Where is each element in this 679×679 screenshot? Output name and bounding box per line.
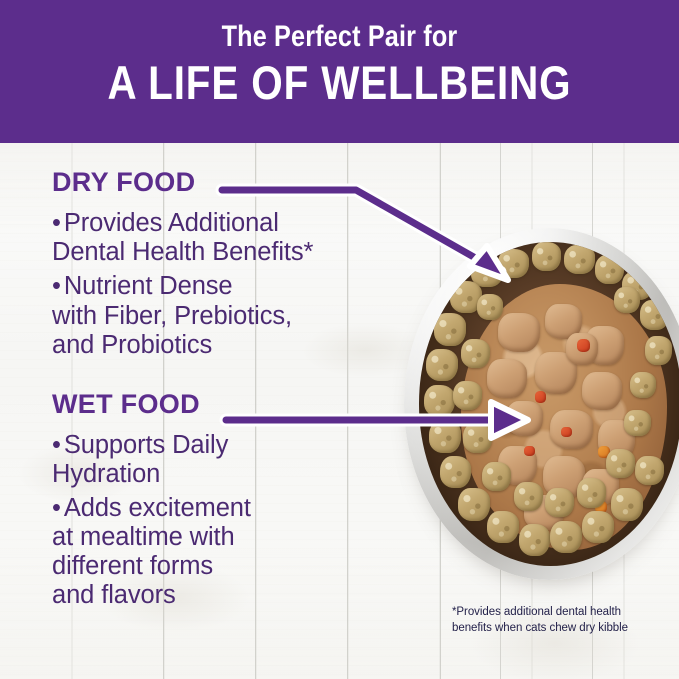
bullet-line: and Probiotics [52, 331, 212, 359]
bullet-line: Provides Additional [64, 209, 279, 237]
bullet-line: Dental Health Benefits* [52, 238, 313, 266]
list-item: •Supports Daily Hydration [52, 431, 392, 489]
dry-kibble [424, 385, 456, 417]
bowl [404, 228, 679, 580]
bullet-icon: • [52, 209, 64, 237]
dry-kibble [434, 313, 466, 345]
page-title: A LIFE OF WELLBEING [48, 53, 632, 106]
dry-kibble [564, 245, 596, 274]
dry-kibble [463, 423, 492, 452]
promo-infographic: The Perfect Pair for A LIFE OF WELLBEING [0, 0, 679, 679]
bullet-line: Hydration [52, 460, 160, 488]
dry-kibble [630, 372, 656, 398]
benefits-copy: DRY FOOD •Provides Additional Dental Hea… [52, 168, 392, 615]
dry-kibble [640, 300, 669, 329]
list-item: •Nutrient Dense with Fiber, Prebiotics, … [52, 272, 392, 359]
dry-kibble [614, 287, 640, 313]
dry-kibble [458, 488, 490, 520]
dry-kibble [582, 511, 614, 543]
list-item: •Provides Additional Dental Health Benef… [52, 209, 392, 267]
section-heading-wet-food: WET FOOD [52, 390, 392, 418]
dry-food-bullet-list: •Provides Additional Dental Health Benef… [52, 209, 392, 359]
wet-food-chunk [506, 401, 543, 437]
dry-kibble [440, 456, 472, 488]
dry-kibble [429, 420, 461, 452]
bullet-line: and flavors [52, 581, 176, 609]
dry-kibble [426, 349, 458, 381]
dry-kibble [514, 482, 543, 511]
wet-food-chunk [498, 313, 540, 352]
wet-food-bullet-list: •Supports Daily Hydration •Adds exciteme… [52, 431, 392, 610]
bullet-line: Supports Daily [64, 431, 228, 459]
veg-bit [577, 339, 590, 352]
header-eyebrow: The Perfect Pair for [54, 0, 624, 53]
veg-bit [524, 446, 535, 456]
dry-kibble [453, 381, 482, 410]
dry-kibble [550, 521, 582, 553]
wet-food-chunk [487, 359, 527, 398]
footnote-line-2: benefits when cats chew dry kibble [452, 621, 672, 637]
footnote-line-1: *Provides additional dental health [452, 605, 672, 621]
bullet-icon: • [52, 494, 64, 522]
dry-kibble [645, 336, 671, 365]
dry-kibble [606, 449, 635, 478]
dry-kibble [611, 488, 643, 520]
dry-kibble [545, 488, 574, 517]
dry-kibble [635, 456, 664, 485]
bullet-line: different forms [52, 552, 213, 580]
veg-bit [495, 417, 508, 430]
dry-kibble [595, 255, 624, 284]
dry-kibble [461, 339, 490, 368]
bullet-line: at mealtime with [52, 523, 235, 551]
dry-kibble [577, 478, 606, 507]
header-band: The Perfect Pair for A LIFE OF WELLBEING [0, 0, 679, 143]
dry-kibble [519, 524, 551, 556]
wet-food-chunk [582, 372, 622, 411]
bullet-line: with Fiber, Prebiotics, [52, 302, 292, 330]
bullet-line: Adds excitement [64, 494, 251, 522]
dry-kibble [482, 462, 511, 491]
bullet-icon: • [52, 272, 64, 300]
dry-kibble [487, 511, 519, 543]
cat-food-bowl-photo [404, 228, 679, 583]
dry-kibble [532, 242, 561, 271]
dry-kibble [624, 410, 650, 436]
bullet-icon: • [52, 431, 64, 459]
wet-food-chunk [550, 410, 592, 449]
veg-bit [561, 427, 572, 437]
footnote: *Provides additional dental health benef… [452, 605, 672, 637]
bowl-interior [419, 242, 679, 566]
dry-kibble [477, 294, 503, 320]
bullet-line: Nutrient Dense [64, 272, 233, 300]
veg-bit [535, 391, 547, 403]
section-heading-dry-food: DRY FOOD [52, 168, 392, 196]
list-item: •Adds excitement at mealtime with differ… [52, 494, 392, 610]
